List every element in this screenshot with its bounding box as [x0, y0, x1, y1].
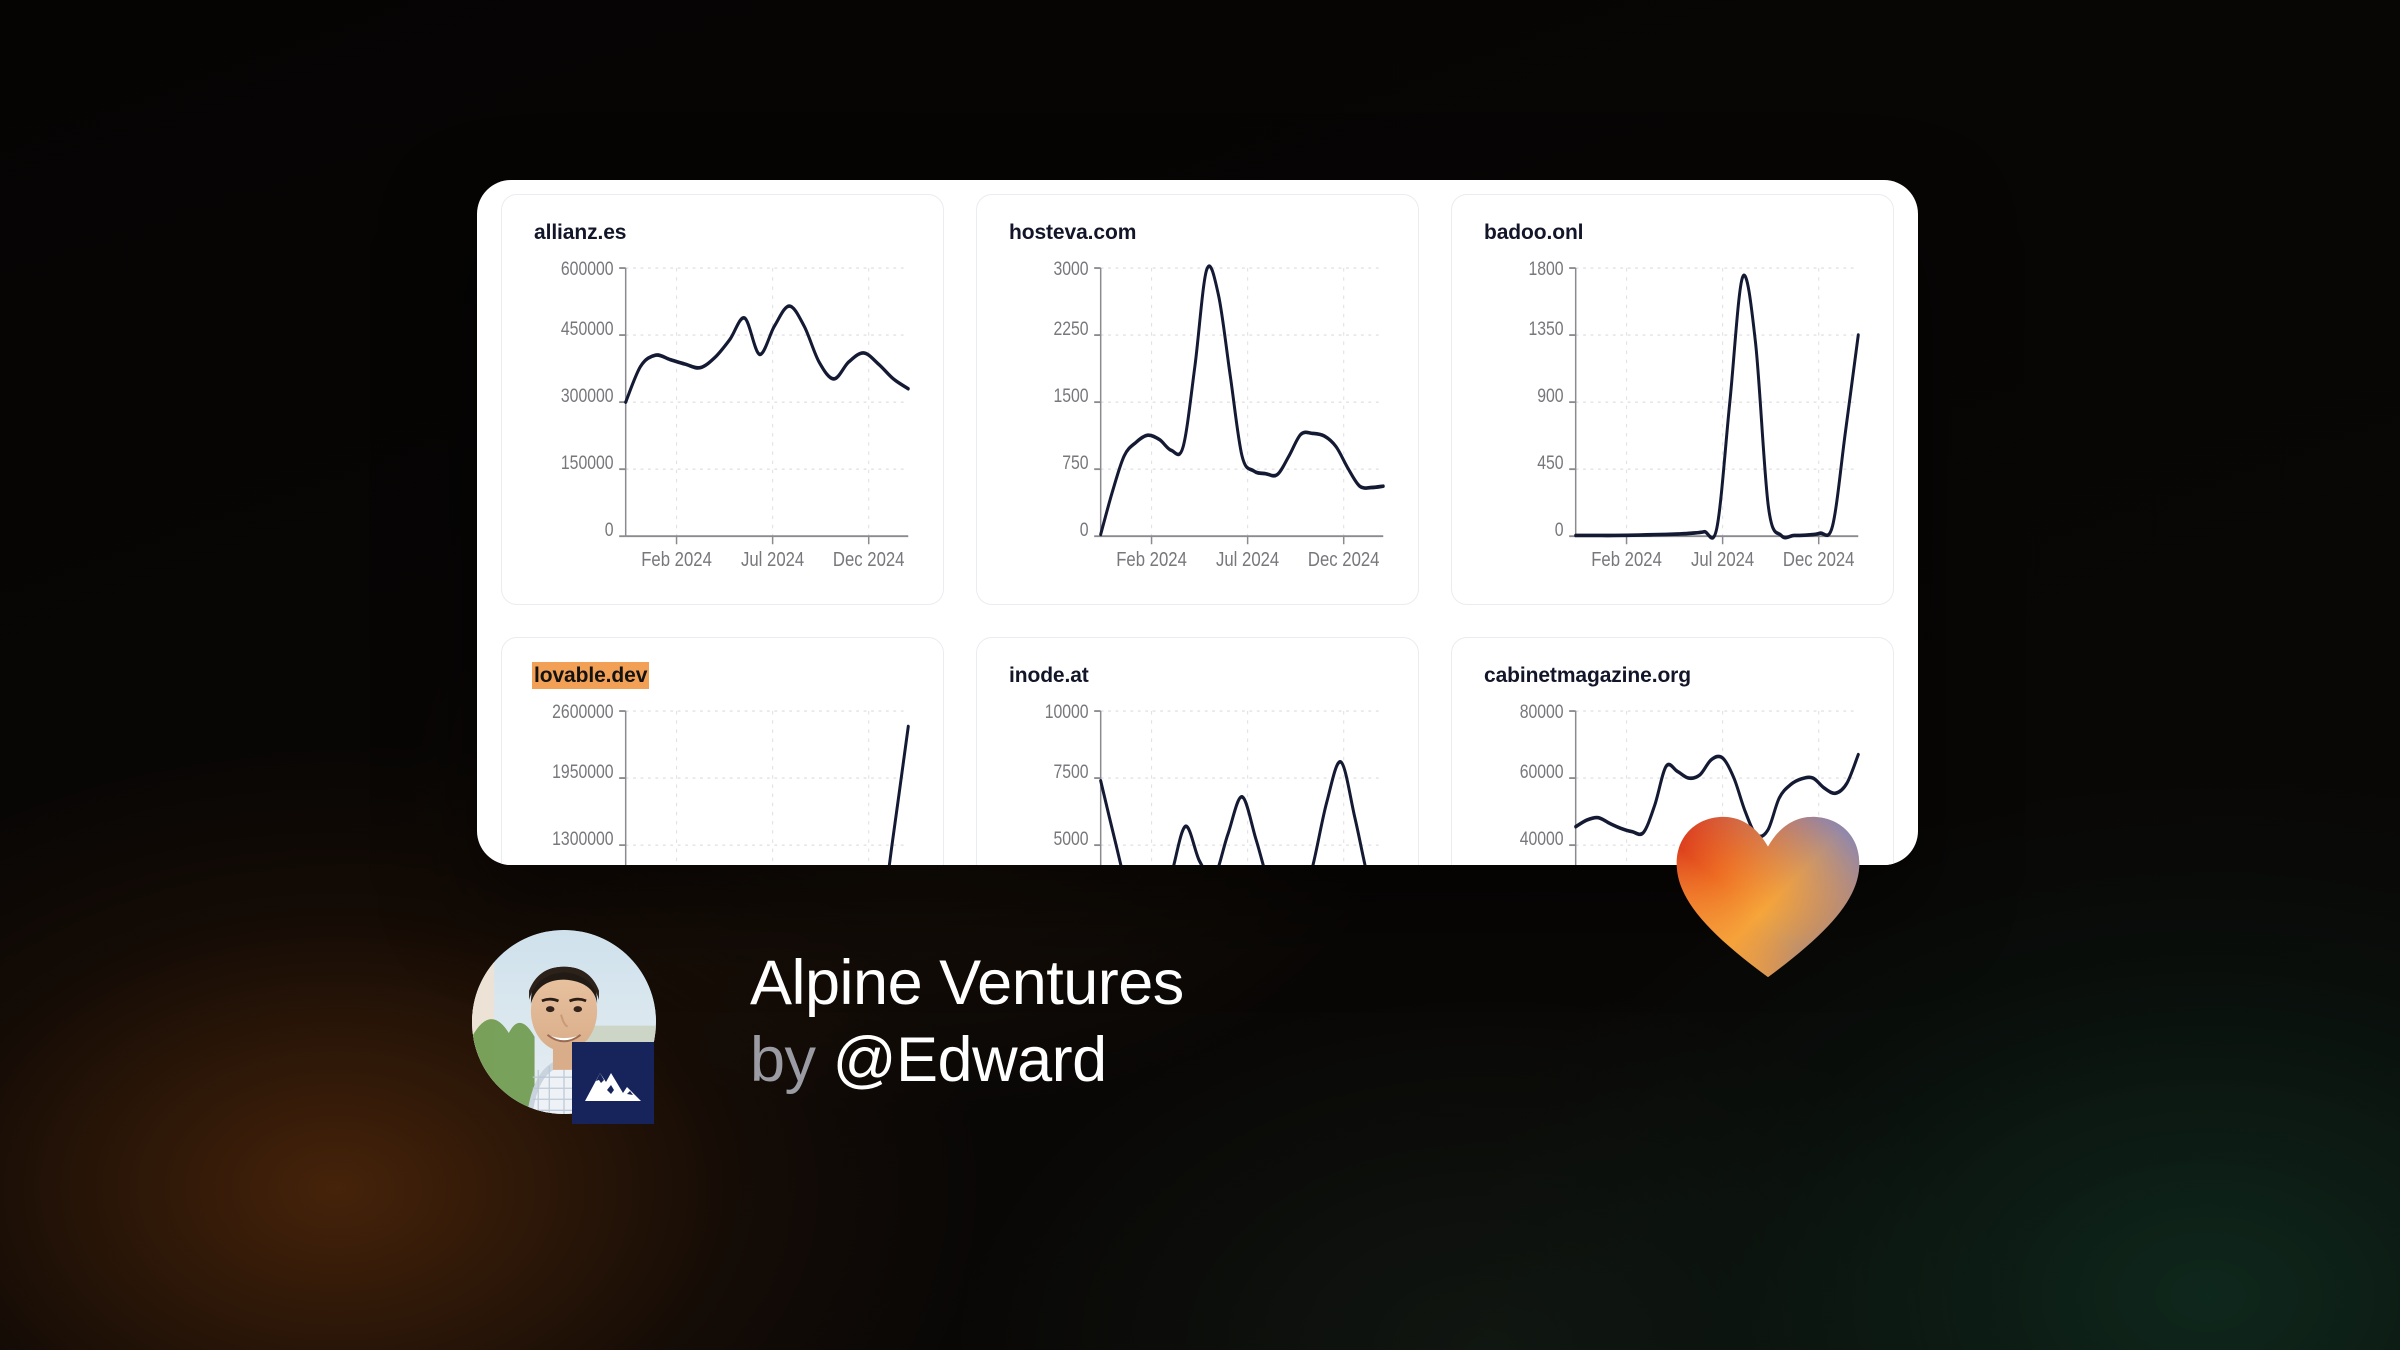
chart-grid: allianz.es0150000300000450000600000Feb 2… — [477, 180, 1918, 865]
svg-text:3000: 3000 — [1053, 258, 1088, 280]
chart-card[interactable]: allianz.es0150000300000450000600000Feb 2… — [501, 194, 944, 605]
svg-text:5000: 5000 — [1053, 828, 1088, 850]
chart-plot: 25005000750010000Feb 2024Jul 2024Dec 202… — [991, 695, 1400, 865]
svg-text:450000: 450000 — [561, 318, 614, 340]
chart-title: allianz.es — [532, 219, 628, 246]
identity-text: Alpine Ventures by @Edward — [750, 948, 1184, 1095]
chart-line — [1101, 266, 1384, 534]
svg-text:Jul 2024: Jul 2024 — [1691, 548, 1754, 571]
byline: by @Edward — [750, 1025, 1184, 1096]
svg-text:1350: 1350 — [1528, 318, 1563, 340]
svg-text:Jul 2024: Jul 2024 — [1216, 548, 1279, 571]
svg-text:60000: 60000 — [1520, 761, 1564, 783]
chart-card[interactable]: inode.at25005000750010000Feb 2024Jul 202… — [976, 637, 1419, 865]
svg-text:2250: 2250 — [1053, 318, 1088, 340]
svg-text:0: 0 — [605, 519, 614, 541]
chart-line — [626, 727, 909, 865]
svg-text:Dec 2024: Dec 2024 — [833, 548, 905, 571]
chart-title: lovable.dev — [532, 662, 649, 689]
chart-plot: 0150000300000450000600000Feb 2024Jul 202… — [516, 252, 925, 596]
by-label: by — [750, 1025, 816, 1095]
svg-text:300000: 300000 — [561, 385, 614, 407]
chart-title: hosteva.com — [1007, 219, 1138, 246]
svg-text:80000: 80000 — [1520, 701, 1564, 723]
chart-card[interactable]: badoo.onl045090013501800Feb 2024Jul 2024… — [1451, 194, 1894, 605]
handle: @Edward — [833, 1025, 1107, 1095]
chart-title: cabinetmagazine.org — [1482, 662, 1693, 689]
svg-text:40000: 40000 — [1520, 828, 1564, 850]
svg-text:Feb 2024: Feb 2024 — [1591, 548, 1662, 571]
svg-text:Jul 2024: Jul 2024 — [741, 548, 804, 571]
svg-text:900: 900 — [1537, 385, 1563, 407]
svg-text:1500: 1500 — [1053, 385, 1088, 407]
chart-title: inode.at — [1007, 662, 1091, 689]
svg-text:2600000: 2600000 — [552, 701, 614, 723]
svg-text:0: 0 — [1555, 519, 1564, 541]
svg-text:750: 750 — [1062, 452, 1088, 474]
footer-identity: Alpine Ventures by @Edward — [472, 930, 1184, 1114]
chart-plot: 650000130000019500002600000Feb 2024Jul 2… — [516, 695, 925, 865]
svg-text:1950000: 1950000 — [552, 761, 614, 783]
avatar — [472, 930, 656, 1114]
svg-text:Feb 2024: Feb 2024 — [641, 548, 712, 571]
chart-line — [626, 306, 909, 402]
svg-text:7500: 7500 — [1053, 761, 1088, 783]
svg-text:450: 450 — [1537, 452, 1563, 474]
svg-text:10000: 10000 — [1045, 701, 1089, 723]
chart-title: badoo.onl — [1482, 219, 1585, 246]
heart-icon — [1673, 815, 1863, 979]
chart-plot: 045090013501800Feb 2024Jul 2024Dec 2024 — [1466, 252, 1875, 596]
svg-text:0: 0 — [1080, 519, 1089, 541]
chart-plot: 0750150022503000Feb 2024Jul 2024Dec 2024 — [991, 252, 1400, 596]
chart-line — [1576, 276, 1859, 539]
chart-card[interactable]: lovable.dev650000130000019500002600000Fe… — [501, 637, 944, 865]
svg-text:600000: 600000 — [561, 258, 614, 280]
svg-text:Feb 2024: Feb 2024 — [1116, 548, 1187, 571]
svg-text:150000: 150000 — [561, 452, 614, 474]
stage: allianz.es0150000300000450000600000Feb 2… — [0, 0, 2400, 1350]
svg-text:1800: 1800 — [1528, 258, 1563, 280]
svg-text:Dec 2024: Dec 2024 — [1783, 548, 1855, 571]
chart-card[interactable]: hosteva.com0750150022503000Feb 2024Jul 2… — [976, 194, 1419, 605]
chart-line — [1101, 762, 1384, 865]
dashboard-panel: allianz.es0150000300000450000600000Feb 2… — [477, 180, 1918, 865]
svg-text:Dec 2024: Dec 2024 — [1308, 548, 1380, 571]
svg-text:1300000: 1300000 — [552, 828, 614, 850]
page-title: Alpine Ventures — [750, 948, 1184, 1019]
mountain-icon — [572, 1042, 654, 1124]
